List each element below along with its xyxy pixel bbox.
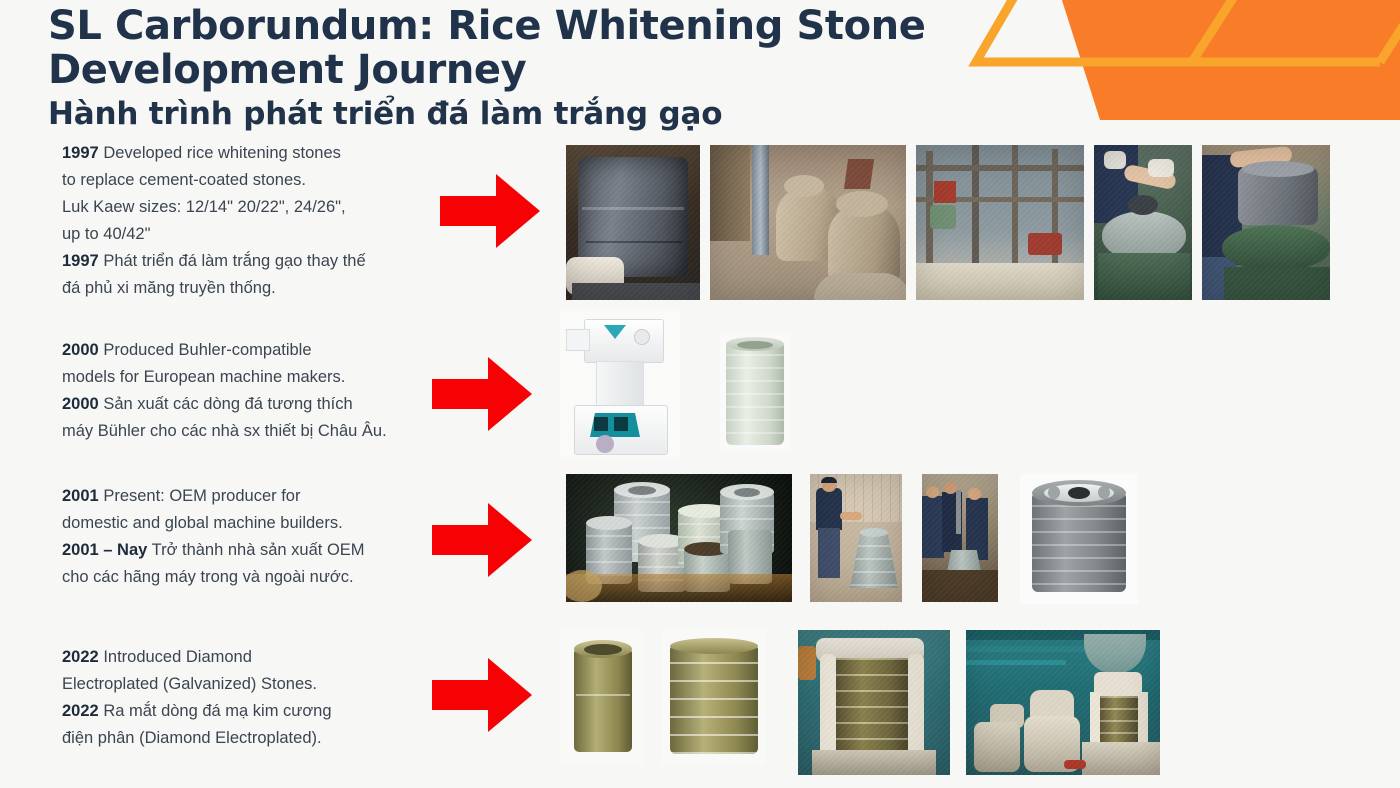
page-title-line1: SL Carborundum: Rice Whitening Stone [48,3,925,49]
desc-en-1997-l2: to replace cement-coated stones. [62,171,306,189]
header: SL Carborundum: Rice Whitening Stone Dev… [48,4,948,132]
red-right-arrow-2000 [430,355,534,433]
desc-en-2022-l1: Introduced Diamond [103,648,252,666]
red-right-arrow-1997 [438,172,542,250]
photo-grey-ring-stack-with-alloy-hub [1020,474,1138,604]
photo-worker-lifting-grey-stone-onto-machine [1202,145,1330,300]
year-label-vi-1997: 1997 [62,252,99,270]
year-label-en-2001: 2001 [62,487,99,505]
photo-white-buhler-rice-whitening-machine [560,309,680,459]
desc-vi-2022-l1: Ra mắt dòng đá mạ kim cương [103,702,331,720]
timeline-row-1997: 1997 Developed rice whitening stones to … [0,140,1400,310]
page-title-line2: Development Journey [48,47,526,93]
photo-strip-2022 [560,630,1160,775]
year-label-en-2022: 2022 [62,648,99,666]
year-label-vi-2001: 2001 – Nay [62,541,147,559]
desc-vi-2001-l1: Trở thành nhà sản xuất OEM [152,541,365,559]
photo-strip-2001 [566,474,1138,604]
photo-stacked-pale-green-stone-rings [720,333,790,451]
desc-vi-2000-l2: máy Bühler cho các nhà sx thiết bị Châu … [62,422,387,440]
photo-rice-mill-interior-machinery [916,145,1084,300]
timeline-row-2001: 2001 Present: OEM producer for domestic … [0,483,1400,623]
red-right-arrow-2001 [430,501,534,579]
desc-en-1997-l3: Luk Kaew sizes: 12/14" 20/22", 24/26", [62,198,346,216]
year-label-en-1997: 1997 [62,144,99,162]
photo-bronze-diamond-electroplated-cylinder [560,630,644,766]
desc-vi-1997-l1: Phát triển đá làm trắng gạo thay thế [103,252,365,270]
desc-vi-2000-l1: Sản xuất các dòng đá tương thích [103,395,352,413]
page-title: SL Carborundum: Rice Whitening Stone Dev… [48,4,948,92]
year-label-en-2000: 2000 [62,341,99,359]
desc-en-2000-l1: Produced Buhler-compatible [103,341,311,359]
photo-installed-electroplated-stone-in-whitener [798,630,950,775]
page-subtitle: Hành trình phát triển đá làm trắng gạo [48,96,948,132]
year-label-vi-2000: 2000 [62,395,99,413]
desc-vi-2022-l2: điện phân (Diamond Electroplated). [62,729,322,747]
desc-vi-2001-l2: cho các hãng máy trong và ngoài nước. [62,568,354,586]
photo-strip-2000 [560,309,790,459]
timeline-row-2022: 2022 Introduced Diamond Electroplated (G… [0,644,1400,788]
desc-vi-1997-l2: đá phủ xi măng truyền thống. [62,279,276,297]
desc-en-1997-l4: up to 40/42" [62,225,150,243]
timeline-row-2000: 2000 Produced Buhler-compatible models f… [0,337,1400,472]
photo-gloved-hand-holding-dark-grindstone [566,145,700,300]
photo-old-cement-coated-stones-in-mill [710,145,906,300]
timeline-text-2022: 2022 Introduced Diamond Electroplated (G… [62,644,462,752]
orange-chevron-graphic [960,0,1400,136]
slide-canvas: SL Carborundum: Rice Whitening Stone Dev… [0,0,1400,788]
red-right-arrow-2022 [430,656,534,734]
desc-en-2001-l2: domestic and global machine builders. [62,514,343,532]
timeline-text-2001: 2001 Present: OEM producer for domestic … [62,483,462,591]
photo-technician-beside-large-conical-stone [810,474,902,602]
photo-team-assembling-stone-in-workshop [922,474,998,602]
timeline-text-1997: 1997 Developed rice whitening stones to … [62,140,442,302]
photo-teal-rice-mill-production-line [966,630,1160,775]
photo-worker-installing-stone-on-whitener [1094,145,1192,300]
photo-assorted-whitening-stone-products [566,474,792,602]
desc-en-2001-l1: Present: OEM producer for [103,487,300,505]
photo-bronze-grooved-electroplated-stone [662,630,766,766]
desc-en-2000-l2: models for European machine makers. [62,368,345,386]
desc-en-1997-l1: Developed rice whitening stones [103,144,341,162]
timeline-text-2000: 2000 Produced Buhler-compatible models f… [62,337,462,445]
photo-strip-1997 [566,145,1330,300]
year-label-vi-2022: 2022 [62,702,99,720]
desc-en-2022-l2: Electroplated (Galvanized) Stones. [62,675,317,693]
